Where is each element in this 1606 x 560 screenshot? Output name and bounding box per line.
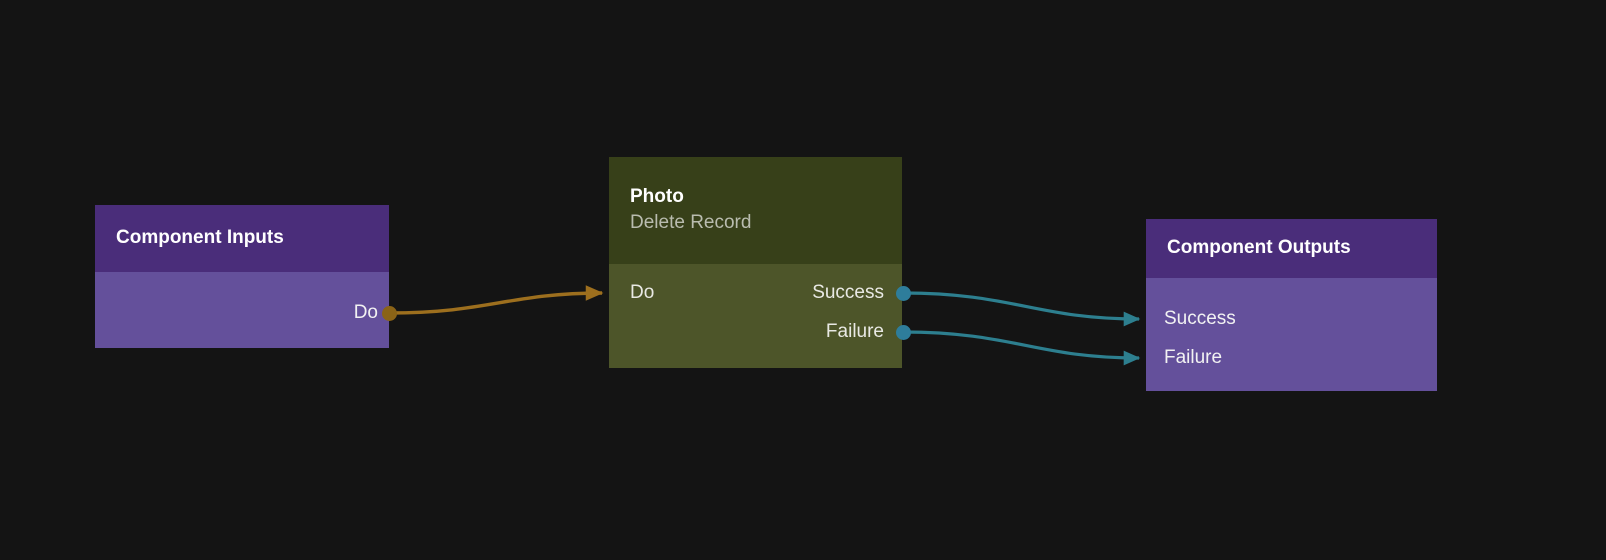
port-row-photo-failure[interactable]: Failure	[609, 320, 884, 344]
port-label-failure: Failure	[826, 320, 884, 344]
node-component-inputs[interactable]: Component Inputs	[95, 205, 389, 348]
port-label-failure: Failure	[1164, 346, 1222, 370]
node-title: Photo	[609, 157, 902, 209]
node-title: Component Inputs	[95, 205, 389, 250]
node-body	[1146, 278, 1437, 391]
port-row-photo-success[interactable]: Success	[609, 281, 884, 305]
port-row-outputs-failure[interactable]: Failure	[1164, 346, 1222, 370]
port-label-do: Do	[354, 301, 378, 325]
port-dot-photo-success[interactable]	[896, 286, 911, 301]
port-dot-photo-failure[interactable]	[896, 325, 911, 340]
port-label-success: Success	[1164, 307, 1236, 331]
port-label-success: Success	[812, 281, 884, 305]
node-title: Component Outputs	[1146, 219, 1437, 260]
edge-photo-success-to-outputs-success	[903, 293, 1139, 319]
node-subtitle: Delete Record	[609, 209, 902, 235]
node-graph-canvas[interactable]: Component Inputs Do Photo Delete Record …	[0, 0, 1606, 560]
port-dot-inputs-do[interactable]	[382, 306, 397, 321]
node-header[interactable]: Photo Delete Record	[609, 157, 902, 264]
node-header[interactable]: Component Outputs	[1146, 219, 1437, 278]
port-row-outputs-success[interactable]: Success	[1164, 307, 1236, 331]
edge-inputs-do-to-photo-do	[389, 293, 602, 313]
node-body	[609, 264, 902, 368]
port-row-inputs-do[interactable]: Do	[95, 301, 378, 325]
edge-photo-failure-to-outputs-failure	[903, 332, 1139, 358]
node-header[interactable]: Component Inputs	[95, 205, 389, 272]
